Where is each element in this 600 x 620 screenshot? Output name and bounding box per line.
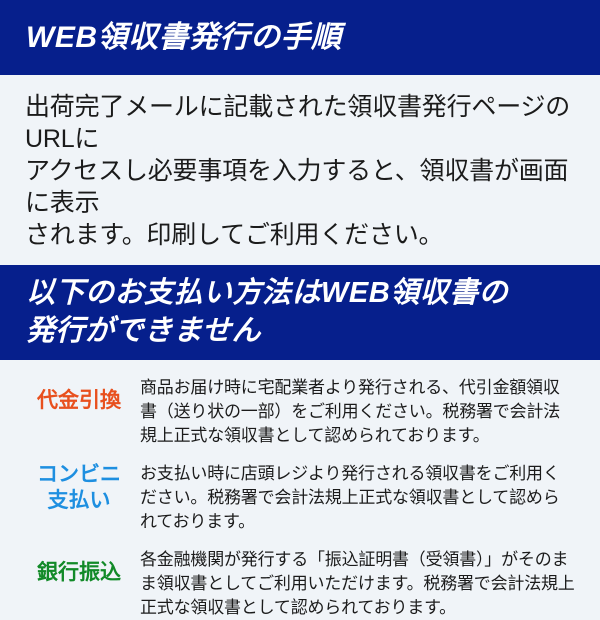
payment-method-label-cod: 代金引換 <box>18 374 140 414</box>
main-header-band: WEB領収書発行の手順 <box>0 0 600 75</box>
sub-header-title: 以下のお支払い方法はWEB領収書の 発行ができません <box>26 275 508 349</box>
receipt-info-page: WEB領収書発行の手順 出荷完了メールに記載された領収書発行ページのURLに ア… <box>0 0 600 600</box>
payment-method-description-cod: 商品お届け時に宅配業者より発行される、代引金額領収書（送り状の一部）をご利用くだ… <box>140 374 582 448</box>
payment-method-label-convenience-store: コンビニ 支払い <box>18 460 140 514</box>
payment-method-description-bank-transfer: 各金融機関が発行する「振込証明書（受領書）」がそのまま領収書としてご利用いただけ… <box>140 546 582 620</box>
payment-method-description-convenience-store: お支払い時に店頭レジより発行される領収書をご利用ください。税務署で会計法規上正式… <box>140 460 582 534</box>
sub-header-band: 以下のお支払い方法はWEB領収書の 発行ができません <box>0 265 600 360</box>
payment-method-row-cod: 代金引換 商品お届け時に宅配業者より発行される、代引金額領収書（送り状の一部）を… <box>18 374 582 448</box>
payment-method-row-convenience-store: コンビニ 支払い お支払い時に店頭レジより発行される領収書をご利用ください。税務… <box>18 460 582 534</box>
page-title: WEB領収書発行の手順 <box>26 19 342 57</box>
intro-paragraph: 出荷完了メールに記載された領収書発行ページのURLに アクセスし必要事項を入力す… <box>0 75 600 265</box>
payment-method-row-bank-transfer: 銀行振込 各金融機関が発行する「振込証明書（受領書）」がそのまま領収書としてご利… <box>18 546 582 620</box>
payment-methods-list: 代金引換 商品お届け時に宅配業者より発行される、代引金額領収書（送り状の一部）を… <box>0 360 600 620</box>
payment-method-label-bank-transfer: 銀行振込 <box>18 546 140 586</box>
